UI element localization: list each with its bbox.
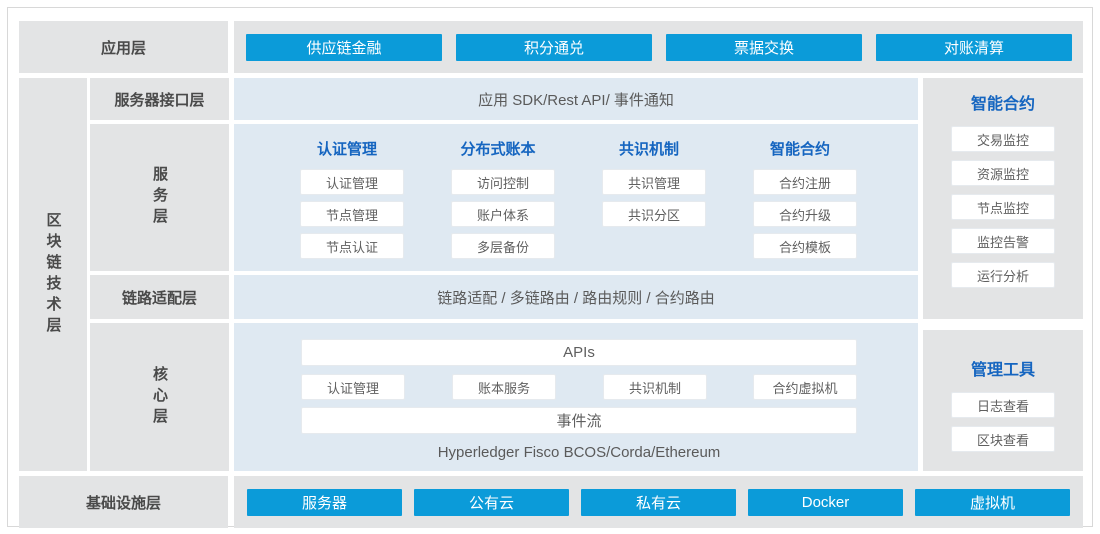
- right-panel-management-tools-title: 管理工具: [923, 356, 1083, 380]
- core-layer-footer: Hyperledger Fisco BCOS/Corda/Ethereum: [301, 439, 857, 465]
- blockchain-tech-layer-label: 区块链技术层: [19, 78, 87, 471]
- right-panel-smart-contract-title: 智能合约: [923, 90, 1083, 114]
- infrastructure-item-1[interactable]: 公有云: [414, 489, 569, 516]
- service-item-0-0[interactable]: 认证管理: [300, 169, 404, 195]
- service-item-3-0[interactable]: 合约注册: [753, 169, 857, 195]
- core-module-1[interactable]: 账本服务: [452, 374, 556, 400]
- service-item-3-1[interactable]: 合约升级: [753, 201, 857, 227]
- core-module-3[interactable]: 合约虚拟机: [753, 374, 857, 400]
- blockchain-tech-layer-text: 区块链技术层: [46, 212, 61, 338]
- core-module-0[interactable]: 认证管理: [301, 374, 405, 400]
- server-interface-layer-label: 服务器接口层: [90, 78, 229, 120]
- service-layer-text: 服务层: [152, 166, 167, 229]
- service-column-header-1: 分布式账本: [446, 136, 550, 160]
- service-item-1-1[interactable]: 账户体系: [451, 201, 555, 227]
- core-event-stream-bar[interactable]: 事件流: [301, 407, 857, 434]
- right-panel-smart-contract-item-3[interactable]: 监控告警: [951, 228, 1055, 254]
- application-item-2[interactable]: 票据交换: [666, 34, 862, 61]
- architecture-diagram: 应用层 供应链金融 积分通兑 票据交换 对账清算 区块链技术层 服务器接口层 应…: [7, 7, 1093, 527]
- infrastructure-item-0[interactable]: 服务器: [247, 489, 402, 516]
- service-column-header-0: 认证管理: [295, 136, 399, 160]
- right-panel-management-tools-item-0[interactable]: 日志查看: [951, 392, 1055, 418]
- link-adapter-layer-label: 链路适配层: [90, 275, 229, 319]
- core-module-2[interactable]: 共识机制: [603, 374, 707, 400]
- application-layer-label: 应用层: [19, 21, 228, 73]
- service-item-2-0[interactable]: 共识管理: [602, 169, 706, 195]
- right-panel-smart-contract-item-0[interactable]: 交易监控: [951, 126, 1055, 152]
- service-column-header-2: 共识机制: [597, 136, 701, 160]
- service-item-0-1[interactable]: 节点管理: [300, 201, 404, 227]
- infrastructure-item-2[interactable]: 私有云: [581, 489, 736, 516]
- infrastructure-layer-label: 基础设施层: [19, 476, 228, 528]
- application-item-3[interactable]: 对账清算: [876, 34, 1072, 61]
- application-item-0[interactable]: 供应链金融: [246, 34, 442, 61]
- right-panel-smart-contract-item-1[interactable]: 资源监控: [951, 160, 1055, 186]
- right-panel-smart-contract-item-2[interactable]: 节点监控: [951, 194, 1055, 220]
- right-panel-management-tools-item-1[interactable]: 区块查看: [951, 426, 1055, 452]
- core-layer-label: 核心层: [90, 323, 229, 471]
- service-layer-label: 服务层: [90, 124, 229, 271]
- service-item-1-0[interactable]: 访问控制: [451, 169, 555, 195]
- right-panel-smart-contract-item-4[interactable]: 运行分析: [951, 262, 1055, 288]
- core-layer-text: 核心层: [152, 366, 167, 429]
- server-interface-layer-content: 应用 SDK/Rest API/ 事件通知: [234, 78, 918, 120]
- service-item-1-2[interactable]: 多层备份: [451, 233, 555, 259]
- infrastructure-item-4[interactable]: 虚拟机: [915, 489, 1070, 516]
- application-item-1[interactable]: 积分通兑: [456, 34, 652, 61]
- service-item-3-2[interactable]: 合约模板: [753, 233, 857, 259]
- service-item-0-2[interactable]: 节点认证: [300, 233, 404, 259]
- service-column-header-3: 智能合约: [748, 136, 852, 160]
- link-adapter-layer-content: 链路适配 / 多链路由 / 路由规则 / 合约路由: [234, 275, 918, 319]
- service-item-2-1[interactable]: 共识分区: [602, 201, 706, 227]
- core-apis-bar[interactable]: APIs: [301, 339, 857, 366]
- infrastructure-item-3[interactable]: Docker: [748, 489, 903, 516]
